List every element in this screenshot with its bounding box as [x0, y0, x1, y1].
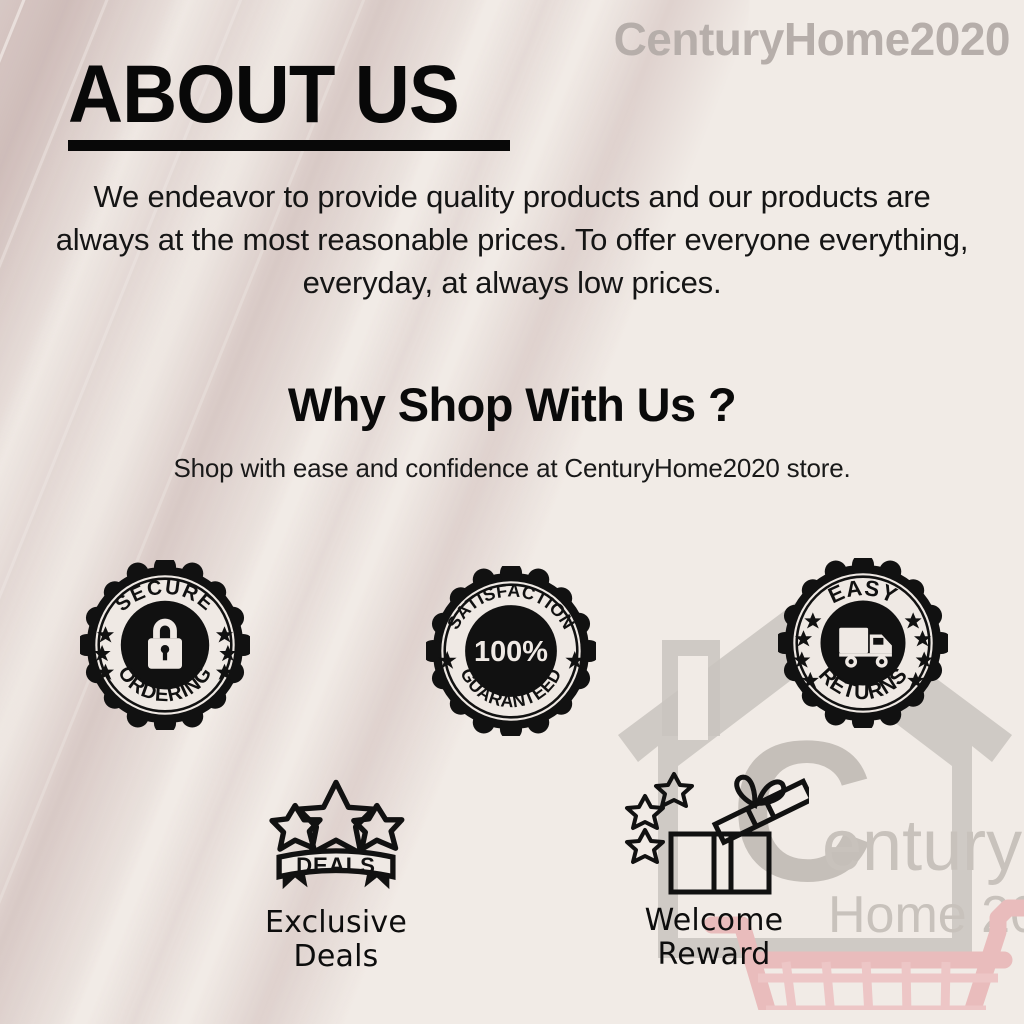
- ribbon-text: DEALS: [296, 853, 376, 878]
- gift-box-icon: [619, 768, 809, 896]
- feature-reward-label: Welcome Reward: [614, 904, 814, 971]
- title-underline: [68, 140, 510, 151]
- page-title-text: ABOUT US: [68, 56, 479, 134]
- badge-satisfaction-guaranteed: SATISFACTION GUARANTEED 100%: [426, 566, 596, 736]
- watermark-line1: entury: [822, 806, 1022, 886]
- feature-welcome-reward: Welcome Reward: [614, 768, 814, 971]
- about-us-graphic: C entury Home 2020 CenturyHome2020 ABOUT…: [0, 0, 1024, 1024]
- feature-deals-label: Exclusive Deals: [246, 906, 426, 973]
- badge-easy-returns: EASY RETURNS: [778, 558, 948, 728]
- badge-satisfaction-center-text: 100%: [474, 636, 548, 668]
- feature-deals-label-line2: Deals: [294, 939, 379, 974]
- why-shop-heading: Why Shop With Us ?: [0, 377, 1024, 432]
- feature-reward-label-line1: Welcome: [645, 903, 784, 938]
- stars-ribbon-icon: DEALS: [256, 770, 416, 898]
- feature-deals-label-line1: Exclusive: [265, 905, 407, 940]
- feature-reward-label-line2: Reward: [658, 937, 771, 972]
- intro-paragraph: We endeavor to provide quality products …: [50, 176, 974, 304]
- badge-secure-ordering: SECURE ORDERING: [80, 560, 250, 730]
- feature-exclusive-deals: DEALS Exclusive Deals: [246, 770, 426, 973]
- page-title: ABOUT US: [68, 56, 510, 151]
- sparkle-stars: [627, 774, 692, 862]
- brand-name: CenturyHome2020: [614, 12, 1010, 66]
- why-shop-subheading: Shop with ease and confidence at Century…: [0, 453, 1024, 484]
